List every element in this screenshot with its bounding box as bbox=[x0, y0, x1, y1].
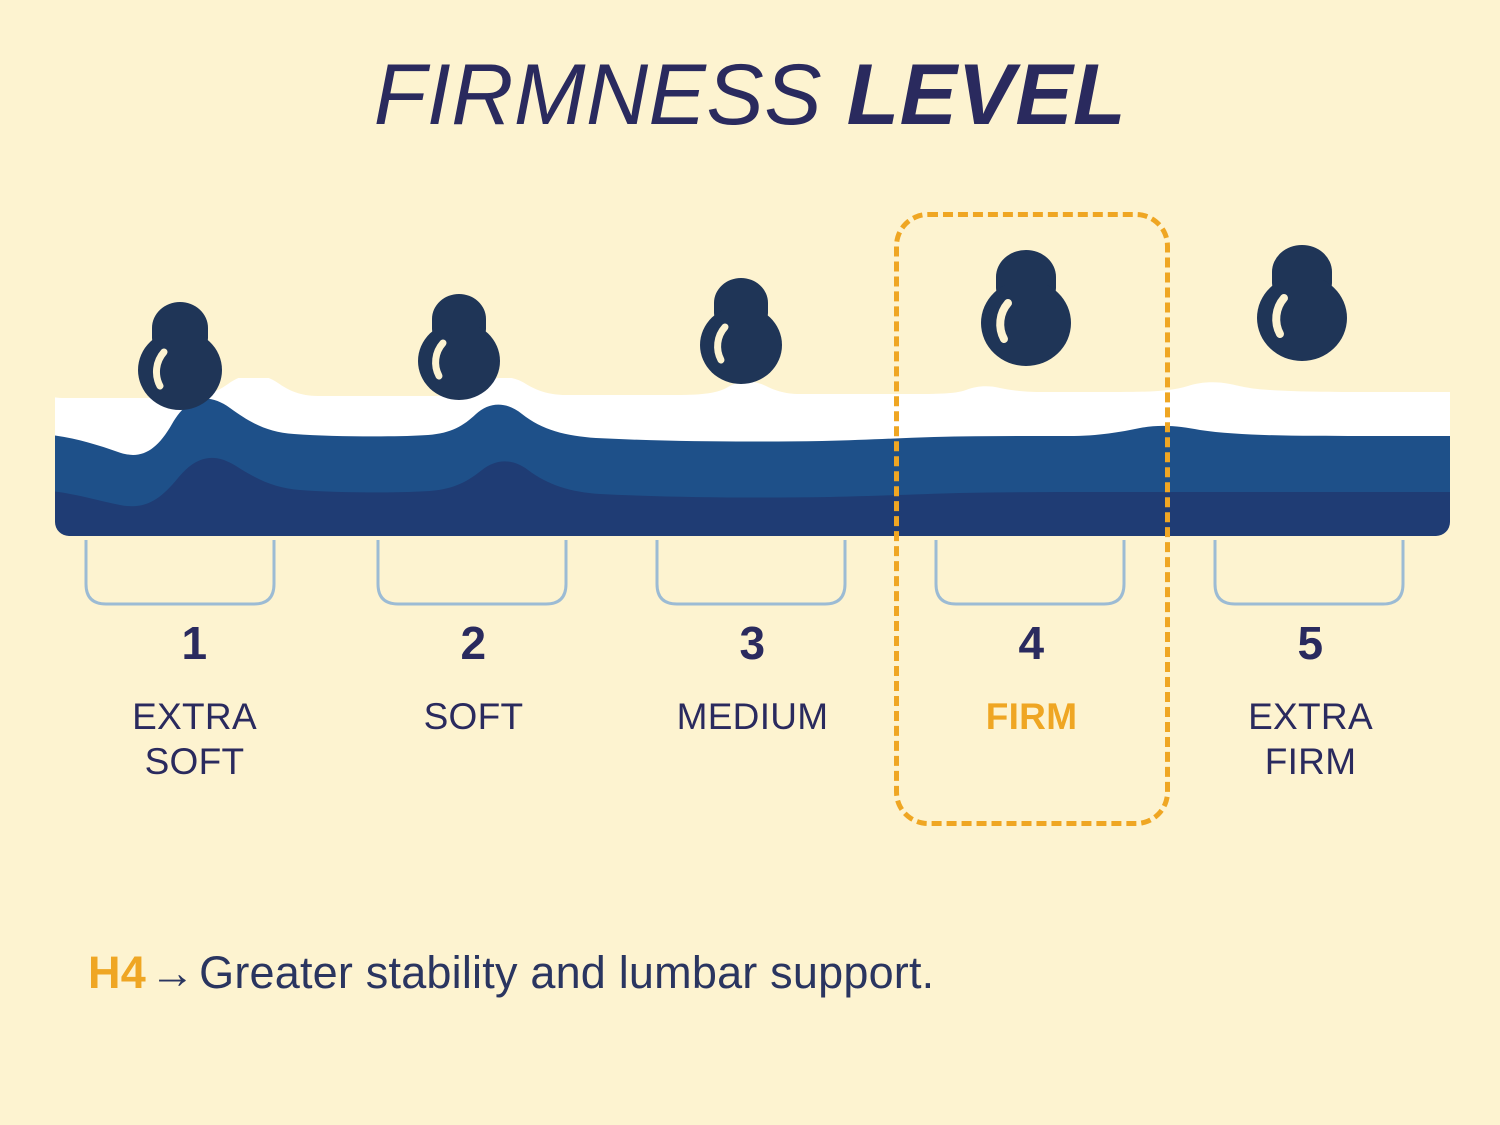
kettlebell-icon-2 bbox=[418, 294, 500, 400]
bracket-2 bbox=[378, 540, 566, 604]
level-name-line2: SOFT bbox=[55, 739, 334, 784]
bracket-5 bbox=[1215, 540, 1403, 604]
level-number: 4 bbox=[892, 620, 1171, 666]
scale-item-4[interactable]: 4 FIRM bbox=[892, 620, 1171, 850]
scale-item-5[interactable]: 5 EXTRA FIRM bbox=[1171, 620, 1450, 850]
bracket-3 bbox=[657, 540, 845, 604]
mattress-body bbox=[40, 378, 1470, 538]
bracket-1 bbox=[86, 540, 274, 604]
footnote-code: H4 bbox=[88, 947, 146, 998]
level-name-line1: SOFT bbox=[334, 694, 613, 739]
firmness-level-infographic: FIRMNESS LEVEL bbox=[0, 0, 1500, 1125]
level-name-line1: EXTRA bbox=[1171, 694, 1450, 739]
mattress-layer-bottom bbox=[40, 378, 1470, 538]
scale-item-3[interactable]: 3 MEDIUM bbox=[613, 620, 892, 850]
scale-item-2[interactable]: 2 SOFT bbox=[334, 620, 613, 850]
level-number: 2 bbox=[334, 620, 613, 666]
level-name: SOFT bbox=[334, 694, 613, 739]
kettlebell-icon-1 bbox=[138, 302, 222, 410]
page-title: FIRMNESS LEVEL bbox=[0, 52, 1500, 138]
mattress-top-surface bbox=[40, 330, 1470, 398]
footnote-text: Greater stability and lumbar support. bbox=[199, 947, 934, 998]
mattress-layer-middle bbox=[40, 378, 1470, 506]
level-name: MEDIUM bbox=[613, 694, 892, 739]
scale-item-1[interactable]: 1 EXTRA SOFT bbox=[55, 620, 334, 850]
level-number: 5 bbox=[1171, 620, 1450, 666]
level-name-line2: FIRM bbox=[1171, 739, 1450, 784]
footnote: H4→Greater stability and lumbar support. bbox=[88, 948, 934, 998]
level-name: EXTRA FIRM bbox=[1171, 694, 1450, 784]
title-part-light: FIRMNESS bbox=[374, 47, 822, 143]
level-name: FIRM bbox=[892, 694, 1171, 739]
level-number: 1 bbox=[55, 620, 334, 666]
mattress-layer-top bbox=[40, 378, 1470, 455]
arrow-icon: → bbox=[146, 947, 199, 998]
level-name: EXTRA SOFT bbox=[55, 694, 334, 784]
level-name-line1: FIRM bbox=[892, 694, 1171, 739]
firmness-scale-labels: 1 EXTRA SOFT 2 SOFT 3 MEDIUM 4 FIRM bbox=[55, 620, 1450, 850]
kettlebell-icon-5 bbox=[1257, 245, 1347, 361]
level-name-line1: MEDIUM bbox=[613, 694, 892, 739]
support-brackets bbox=[86, 540, 1403, 604]
kettlebell-icon-3 bbox=[700, 278, 782, 384]
level-name-line1: EXTRA bbox=[55, 694, 334, 739]
level-number: 3 bbox=[613, 620, 892, 666]
title-part-bold: LEVEL bbox=[847, 47, 1127, 143]
